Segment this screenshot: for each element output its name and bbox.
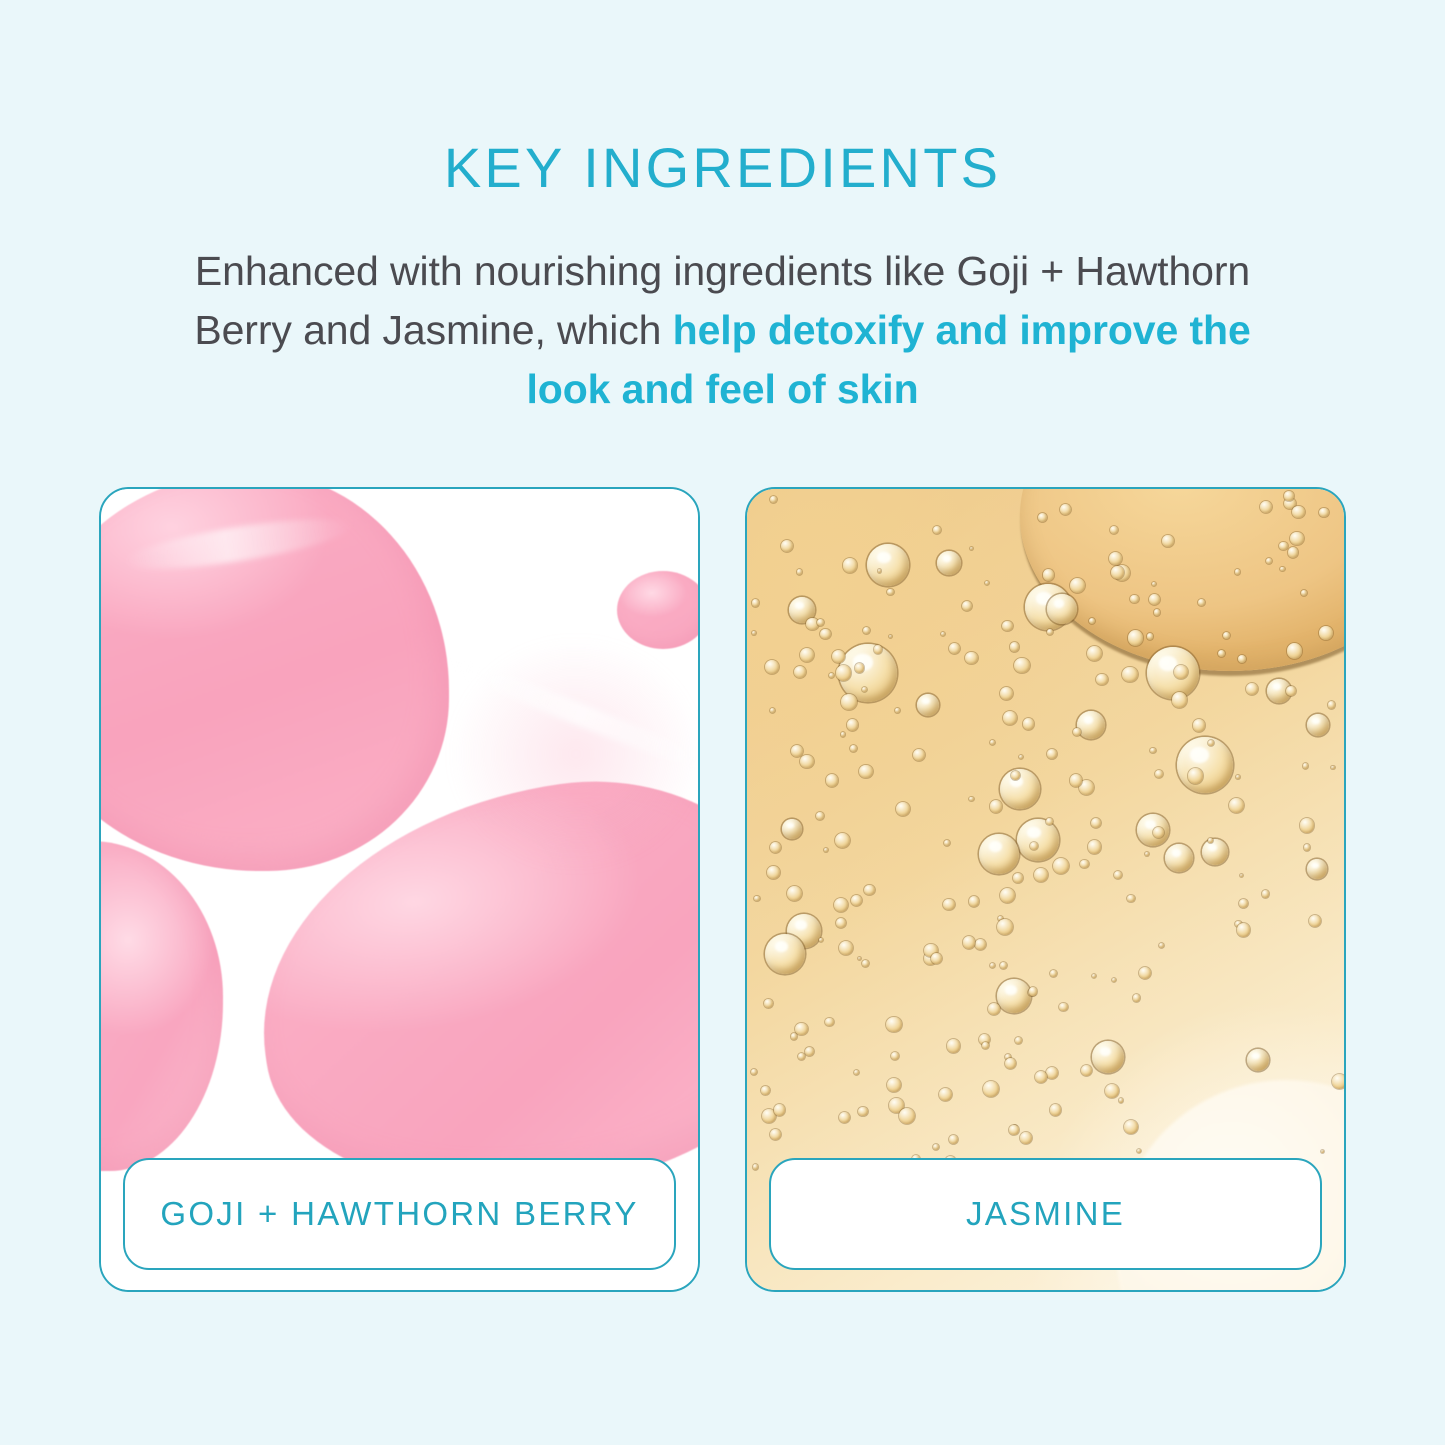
oil-bubble-small [1328,701,1336,709]
oil-bubble-small [1023,718,1035,730]
oil-bubble-small [1128,630,1144,646]
subtitle: Enhanced with nourishing ingredients lik… [178,242,1268,419]
oil-bubble-small [1235,569,1241,575]
oil-bubble-small [1237,923,1251,937]
oil-bubble-small [1319,626,1333,640]
oil-bubble [937,551,961,575]
oil-bubble-small [1133,994,1141,1002]
oil-bubble-small [1009,1125,1019,1135]
oil-bubble-small [939,1088,952,1101]
key-ingredients-panel: KEY INGREDIENTS Enhanced with nourishing… [0,0,1445,1445]
oil-bubble-small [1059,1003,1068,1012]
oil-bubble-small [1260,501,1272,513]
oil-bubble-small [843,558,857,572]
oil-bubble-small [1080,860,1089,869]
oil-bubble-small [962,601,972,611]
oil-bubble [1307,859,1327,879]
oil-bubble-small [1046,1067,1058,1079]
oil-bubble [867,544,909,586]
ingredient-label-text: JASMINE [966,1195,1125,1233]
ingredient-card-list: GOJI + HAWTHORN BERRY JASMINE [99,487,1346,1292]
oil-bubble-small [1301,590,1307,596]
oil-bubble-small [1154,609,1160,615]
oil-bubble-small [817,619,824,626]
oil-bubble [1077,711,1105,739]
oil-bubble [917,694,939,716]
oil-bubble [1247,1049,1269,1071]
ingredient-card-jasmine[interactable]: JASMINE [745,487,1346,1292]
oil-bubble [782,819,802,839]
oil-bubble-small [864,885,874,895]
ingredient-label-plate-goji: GOJI + HAWTHORN BERRY [123,1158,676,1270]
oil-bubble-small [1239,899,1248,908]
oil-bubble-small [1013,873,1023,883]
oil-bubble-small [1088,840,1101,853]
oil-bubble-small [761,1086,770,1095]
oil-bubble-small [1303,763,1309,769]
oil-bubble-small [1050,1104,1062,1116]
oil-bubble [1092,1041,1124,1073]
oil-bubble-small [1236,775,1240,779]
oil-bubble-small [1070,774,1082,786]
oil-bubble-small [1060,504,1071,515]
oil-bubble-small [1262,890,1269,897]
oil-bubble-small [797,569,802,574]
header: KEY INGREDIENTS Enhanced with nourishing… [0,0,1445,419]
oil-bubble-small [1020,1132,1032,1144]
oil-bubble-small [1147,633,1153,639]
oil-bubble-small [1240,874,1243,877]
oil-bubble-small [1208,838,1213,843]
oil-bubble-small [1087,646,1102,661]
oil-bubble-small [1000,888,1015,903]
oil-bubble-small [841,732,845,736]
oil-bubble-small [1035,1071,1047,1083]
oil-bubble-small [983,1081,999,1097]
oil-bubble-small [975,939,986,950]
oil-bubble-small [896,802,910,816]
oil-bubble-small [791,745,803,757]
oil-bubble-small [800,648,814,662]
oil-bubble-small [770,842,781,853]
oil-bubble-small [878,569,882,573]
oil-bubble-small [1047,749,1057,759]
oil-bubble [765,934,805,974]
oil-bubble-small [886,1017,902,1033]
oil-bubble-small [1300,818,1315,833]
oil-bubble-small [1111,566,1124,579]
oil-bubble-small [1287,643,1303,659]
oil-bubble-small [1029,987,1038,996]
oil-bubble-small [1321,1150,1324,1153]
oil-bubble-small [1198,599,1205,606]
oil-bubble-small [1019,755,1023,759]
oil-bubble-small [841,694,857,710]
oil-bubble-small [1038,513,1047,522]
oil-bubble-small [965,652,977,664]
oil-bubble-small [1137,1149,1141,1153]
oil-bubble-small [1092,974,1096,978]
oil-bubble [1307,714,1329,736]
oil-bubble-small [1288,547,1299,558]
oil-bubble-small [764,999,773,1008]
oil-bubble-small [997,919,1013,935]
oil-bubble-small [887,1078,901,1092]
oil-bubble-small [947,1039,961,1053]
oil-bubble-small [1122,667,1138,683]
oil-bubble-small [1014,658,1030,674]
oil-bubble-small [933,1144,939,1150]
oil-bubble [1165,844,1193,872]
oil-bubble-small [1105,1084,1119,1098]
oil-bubble-small [933,526,941,534]
oil-bubble-small [1145,852,1149,856]
oil-bubble-small [851,895,862,906]
oil-bubble-small [913,749,925,761]
oil-bubble-small [816,812,824,820]
oil-bubble [1147,647,1199,699]
oil-bubble-small [850,745,857,752]
oil-bubble-small [1188,768,1204,784]
oil-bubble-small [1046,818,1053,825]
oil-bubble-small [1002,621,1013,632]
oil-bubble-small [1162,535,1174,547]
oil-bubble-small [1172,692,1187,707]
oil-bubble-small [1292,506,1305,519]
oil-bubble-small [963,936,975,948]
oil-bubble-small [1110,526,1118,534]
oil-bubble-small [1010,642,1020,652]
oil-bubble-small [941,632,945,636]
oil-bubble-small [1331,766,1335,770]
oil-bubble-small [805,1047,814,1056]
oil-bubble [1177,737,1233,793]
oil-bubble-small [770,1129,781,1140]
oil-bubble-small [1003,711,1017,725]
oil-bubble-small [943,899,954,910]
oil-bubble-small [1149,594,1160,605]
oil-bubble-small [1284,491,1294,501]
oil-bubble-small [798,1053,805,1060]
oil-bubble-small [1109,552,1122,565]
oil-bubble [1047,594,1077,624]
oil-bubble-small [1159,943,1164,948]
oil-bubble-small [1193,719,1206,732]
oil-bubble-small [891,1052,899,1060]
oil-bubble-small [1280,567,1285,572]
oil-bubble-small [751,1069,757,1075]
oil-bubble-small [887,589,893,595]
oil-bubble [997,979,1031,1013]
oil-bubble-small [1155,770,1163,778]
ingredient-label-plate-jasmine: JASMINE [769,1158,1322,1270]
oil-bubble-small [832,650,845,663]
page-title: KEY INGREDIENTS [0,138,1445,198]
oil-bubble-small [1000,962,1007,969]
oil-bubble-small [1124,1120,1138,1134]
oil-bubble-small [944,840,950,846]
oil-bubble-small [1047,629,1053,635]
oil-bubble-small [1290,532,1304,546]
oil-bubble-small [781,540,793,552]
oil-bubble [979,834,1019,874]
oil-bubble-small [854,1070,859,1075]
oil-bubble-small [752,631,756,635]
oil-bubble-small [1000,687,1013,700]
oil-bubble-small [1089,618,1095,624]
oil-bubble-small [969,896,980,907]
oil-bubble-small [1319,508,1329,518]
oil-bubble [1202,839,1228,865]
oil-bubble-small [826,774,839,787]
oil-bubble-small [767,866,780,879]
oil-bubble-small [855,663,864,672]
ingredient-label-text: GOJI + HAWTHORN BERRY [160,1195,638,1233]
oil-bubble-small [895,708,900,713]
oil-bubble-small [820,629,831,640]
oil-bubble [1017,819,1059,861]
oil-bubble-small [1332,1074,1344,1089]
oil-bubble-small [836,665,851,680]
ingredient-card-goji-hawthorn-berry[interactable]: GOJI + HAWTHORN BERRY [99,487,700,1292]
oil-bubble-small [949,643,960,654]
oil-bubble-small [819,938,823,942]
oil-bubble-small [1309,915,1321,927]
oil-bubble-small [1238,655,1246,663]
oil-bubble-small [839,941,853,955]
